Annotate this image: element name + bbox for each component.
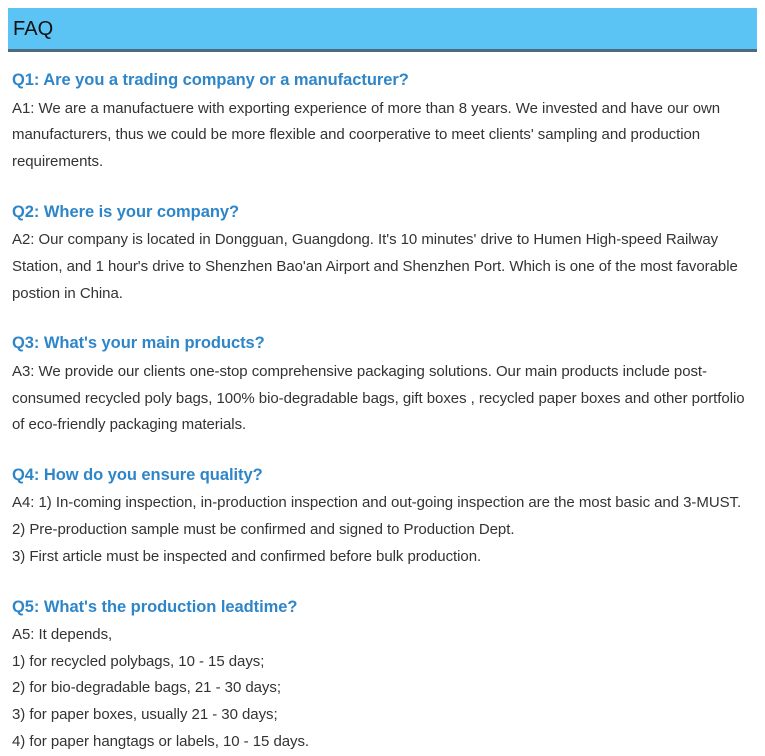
faq-page: FAQ Q1: Are you a trading company or a m… [0,0,765,748]
faq-answer-4: A4: 1) In-coming inspection, in-producti… [12,490,752,570]
faq-answer-line: 4) for paper hangtags or labels, 10 - 15… [12,729,752,756]
faq-answer-line: 1) for recycled polybags, 10 - 15 days; [12,649,752,676]
faq-answer-1: A1: We are a manufactuere with exporting… [12,96,752,176]
faq-item-4: Q4: How do you ensure quality? A4: 1) In… [12,463,752,571]
faq-answer-line: A5: It depends, [12,622,752,649]
faq-question-3: Q3: What's your main products? [12,331,752,357]
faq-answer-line: 3) for paper boxes, usually 21 - 30 days… [12,702,752,729]
faq-header-bar: FAQ [8,8,757,52]
page-title: FAQ [8,19,53,39]
faq-question-4: Q4: How do you ensure quality? [12,463,752,489]
faq-content: Q1: Are you a trading company or a manuf… [12,68,752,756]
faq-answer-line: A4: 1) In-coming inspection, in-producti… [12,490,752,517]
faq-question-2: Q2: Where is your company? [12,200,752,226]
faq-answer-line: A3: We provide our clients one-stop comp… [12,359,752,439]
faq-answer-line: A2: Our company is located in Dongguan, … [12,227,752,307]
faq-question-5: Q5: What's the production leadtime? [12,595,752,621]
faq-item-2: Q2: Where is your company? A2: Our compa… [12,200,752,308]
faq-item-1: Q1: Are you a trading company or a manuf… [12,68,752,176]
faq-question-1: Q1: Are you a trading company or a manuf… [12,68,752,94]
faq-item-3: Q3: What's your main products? A3: We pr… [12,331,752,439]
faq-answer-2: A2: Our company is located in Dongguan, … [12,227,752,307]
faq-answer-line: 2) for bio-degradable bags, 21 - 30 days… [12,675,752,702]
faq-answer-line: 2) Pre-production sample must be confirm… [12,517,752,544]
faq-answer-5: A5: It depends, 1) for recycled polybags… [12,622,752,755]
faq-answer-line: A1: We are a manufactuere with exporting… [12,96,752,176]
faq-answer-3: A3: We provide our clients one-stop comp… [12,359,752,439]
faq-item-5: Q5: What's the production leadtime? A5: … [12,595,752,756]
faq-answer-line: 3) First article must be inspected and c… [12,544,752,571]
